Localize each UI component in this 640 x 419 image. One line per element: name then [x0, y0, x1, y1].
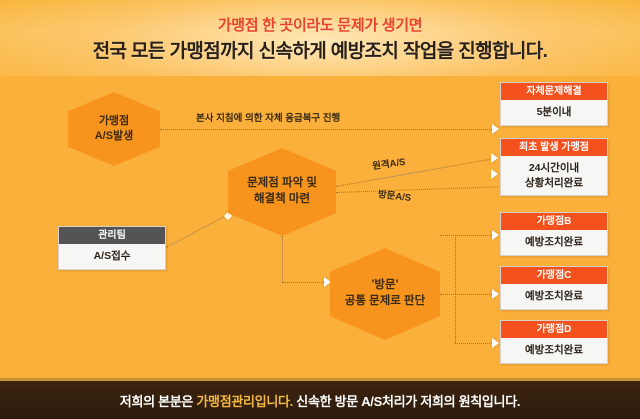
card-first-store-body-line-1: 24시간이내 — [503, 161, 605, 176]
node-common-line-1: '방문' — [372, 278, 399, 294]
card-first-store-title: 최초 발생 가맹점 — [501, 139, 607, 156]
card-store-d-title: 가맹점D — [501, 321, 607, 338]
card-first-store-body-line-2: 상황처리완료 — [503, 176, 605, 191]
connector-label-remote-as: 원격A/S — [371, 154, 406, 173]
node-common-hexagon[interactable]: '방문' 공통 문제로 판단 — [330, 248, 440, 340]
connector-common-to-d — [455, 343, 496, 344]
header-line-1: 가맹점 한 곳이라도 문제가 생기면 — [0, 14, 640, 35]
card-store-b-body: 예방조치완료 — [501, 230, 607, 255]
connector-label-emergency: 본사 지침에 의한 자체 응급복구 진행 — [196, 110, 340, 124]
card-store-c-body-line-1: 예방조치완료 — [503, 289, 605, 304]
footer-text-part-1: 저희의 본분은 — [120, 394, 197, 409]
card-store-d[interactable]: 가맹점D 예방조치완료 — [500, 320, 608, 364]
card-management-team-body: A/S접수 — [59, 244, 165, 269]
card-store-b[interactable]: 가맹점B 예방조치완료 — [500, 212, 608, 256]
card-store-d-body: 예방조치완료 — [501, 338, 607, 363]
node-analyze-hexagon[interactable]: 문제점 파악 및 해결책 마련 — [228, 148, 336, 236]
card-self-resolution-body: 5분이내 — [501, 100, 607, 125]
connector-common-drop-d — [455, 294, 456, 343]
card-store-c-body: 예방조치완료 — [501, 284, 607, 309]
connector-analyze-visit — [336, 186, 498, 193]
connector-common-to-b — [440, 235, 496, 236]
header-line-2: 전국 모든 가맹점까지 신속하게 예방조치 작업을 진행합니다. — [0, 36, 640, 63]
node-start-line-2: A/S발생 — [95, 129, 134, 144]
card-self-resolution-body-line-1: 5분이내 — [503, 105, 605, 120]
card-store-b-body-line-1: 예방조치완료 — [503, 235, 605, 250]
card-first-store-body: 24시간이내 상황처리완료 — [501, 156, 607, 195]
card-self-resolution-title: 자체문제해결 — [501, 83, 607, 100]
connector-common-to-c — [440, 294, 496, 295]
connector-analyze-to-common — [282, 236, 283, 282]
card-management-team-title: 관리팀 — [59, 227, 165, 244]
arrowhead-to-card-b — [492, 230, 499, 240]
footer-bar: 저희의 본분은 가맹점관리입니다. 신속한 방문 A/S처리가 저희의 원칙입니… — [0, 378, 640, 419]
connector-start-to-self — [160, 129, 496, 130]
node-start-line-1: 가맹점 — [99, 114, 129, 129]
node-analyze-line-1: 문제점 파악 및 — [247, 176, 317, 192]
card-management-team[interactable]: 관리팀 A/S접수 — [58, 226, 166, 270]
arrowhead-to-first-card-upper — [491, 153, 498, 163]
arrowhead-to-self-card — [492, 124, 499, 134]
footer-text-highlight: 가맹점관리입니다. — [196, 394, 293, 409]
card-store-d-body-line-1: 예방조치완료 — [503, 343, 605, 358]
arrowhead-to-card-c — [492, 289, 499, 299]
footer-text-part-2: 신속한 방문 A/S처리가 저희의 원칙입니다. — [293, 394, 520, 409]
footer-text: 저희의 본분은 가맹점관리입니다. 신속한 방문 A/S처리가 저희의 원칙입니… — [120, 391, 520, 410]
card-store-c-title: 가맹점C — [501, 267, 607, 284]
connector-common-riser-b — [455, 235, 456, 294]
arrowhead-to-first-card-lower — [491, 169, 498, 179]
connector-analyze-remote — [336, 158, 496, 187]
node-analyze-line-2: 해결책 마련 — [254, 192, 310, 208]
card-store-c[interactable]: 가맹점C 예방조치완료 — [500, 266, 608, 310]
arrowhead-to-card-d — [492, 338, 499, 348]
card-management-team-body-line-1: A/S접수 — [61, 249, 163, 264]
connector-label-visit-as: 방문A/S — [377, 186, 412, 204]
card-store-b-title: 가맹점B — [501, 213, 607, 230]
node-common-line-2: 공통 문제로 판단 — [345, 294, 425, 310]
header-band: 가맹점 한 곳이라도 문제가 생기면 전국 모든 가맹점까지 신속하게 예방조치… — [0, 0, 640, 76]
node-start-hexagon[interactable]: 가맹점 A/S발생 — [68, 92, 160, 166]
card-first-store[interactable]: 최초 발생 가맹점 24시간이내 상황처리완료 — [500, 138, 608, 196]
diagram-canvas: 가맹점 한 곳이라도 문제가 생기면 전국 모든 가맹점까지 신속하게 예방조치… — [0, 0, 640, 419]
connector-team-to-analyze — [166, 213, 230, 248]
card-self-resolution[interactable]: 자체문제해결 5분이내 — [500, 82, 608, 126]
connector-analyze-to-common-h — [282, 282, 330, 283]
arrowhead-to-common-hex — [324, 277, 331, 287]
